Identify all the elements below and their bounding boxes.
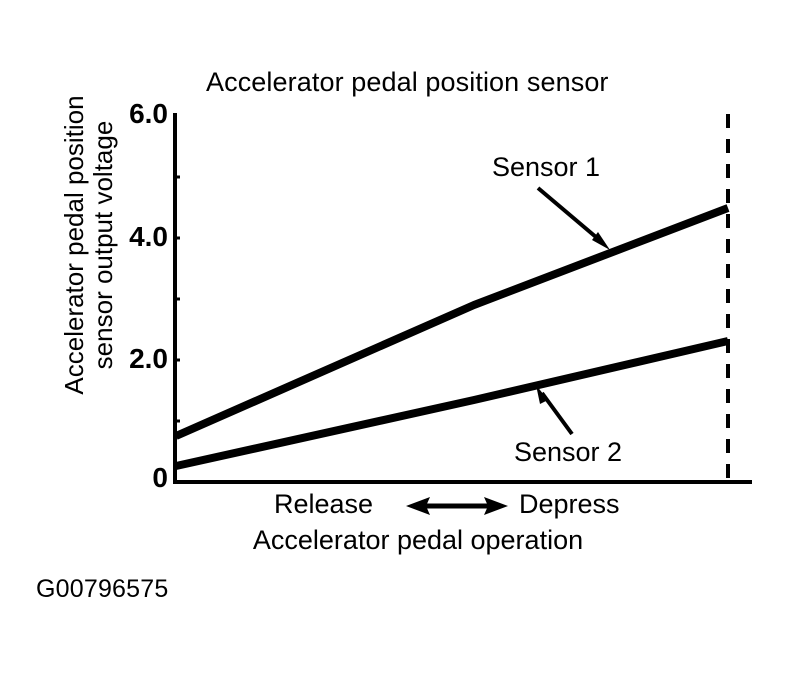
sensor-2-annotation-arrow <box>536 385 572 434</box>
series-label-sensor-1: Sensor 1 <box>492 152 600 183</box>
sensor-1-annotation-arrow <box>538 188 610 250</box>
x-axis-direction-release: Release <box>274 489 373 520</box>
series-label-sensor-2: Sensor 2 <box>514 437 622 468</box>
figure-code: G00796575 <box>36 575 168 604</box>
figure-canvas: Accelerator pedal position sensor Accele… <box>0 0 786 679</box>
x-axis-direction-depress: Depress <box>519 489 620 520</box>
x-axis-label: Accelerator pedal operation <box>0 525 786 556</box>
direction-double-arrow-icon <box>406 497 508 515</box>
